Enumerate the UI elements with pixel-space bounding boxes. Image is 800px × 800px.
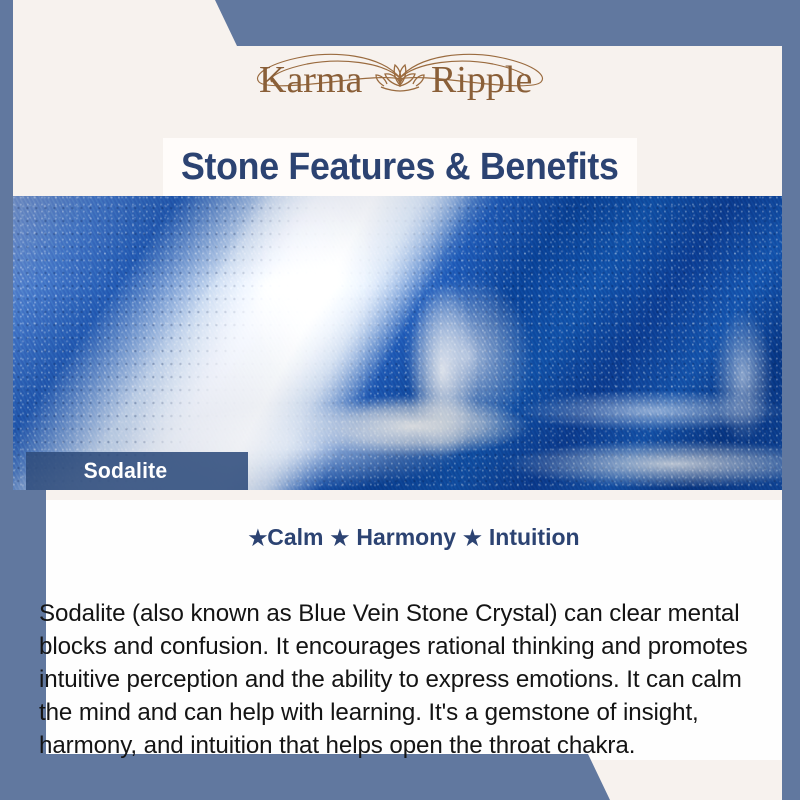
star-icon-2: ★ — [331, 527, 350, 550]
keyword-intuition: Intuition — [489, 524, 580, 550]
logo-word-karma: Karma — [259, 59, 363, 101]
star-icon-1: ★ — [248, 527, 267, 550]
logo-word-ripple: Ripple — [431, 59, 532, 101]
poster-canvas: Sodalite — [0, 0, 800, 800]
sodalite-stone-image — [13, 196, 782, 492]
frame-right-bar — [782, 0, 800, 800]
frame-left-bar — [0, 0, 13, 800]
keyword-harmony: Harmony — [356, 524, 456, 550]
content-panel-cream-strip — [46, 490, 782, 500]
brand-logo: Karma Ripple — [0, 40, 800, 118]
keyword-calm: Calm — [267, 524, 323, 550]
page-title: Stone Features & Benefits — [181, 146, 619, 189]
karma-ripple-logo-icon: Karma Ripple — [235, 42, 565, 116]
page-title-band: Stone Features & Benefits — [163, 138, 637, 196]
stone-description: Sodalite (also known as Blue Vein Stone … — [39, 597, 750, 762]
keyword-row: ★Calm★Harmony★Intuition — [46, 524, 782, 551]
stone-name-banner: Sodalite — [26, 452, 248, 490]
star-icon-3: ★ — [463, 527, 482, 550]
stone-name-label: Sodalite — [29, 458, 167, 484]
